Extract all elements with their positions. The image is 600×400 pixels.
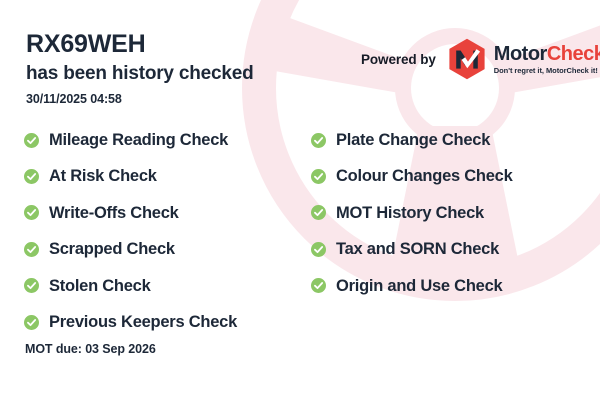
- green-check-circle-icon: [24, 169, 39, 184]
- green-check-circle-icon: [24, 315, 39, 330]
- list-item: MOT History Check: [311, 195, 513, 231]
- list-item: At Risk Check: [24, 158, 237, 194]
- report-header: RX69WEH has been history checked 30/11/2…: [26, 30, 254, 106]
- check-label: Scrapped Check: [49, 241, 175, 258]
- check-label: At Risk Check: [49, 168, 157, 185]
- list-item: Scrapped Check: [24, 231, 237, 267]
- check-label: Origin and Use Check: [336, 278, 502, 295]
- list-item: Write-Offs Check: [24, 195, 237, 231]
- brand-tagline: Don't regret it, MotorCheck it!: [494, 67, 600, 75]
- wordmark-motor: Motor: [494, 43, 547, 65]
- check-label: Previous Keepers Check: [49, 314, 237, 331]
- green-check-circle-icon: [24, 133, 39, 148]
- wordmark-check: Check: [547, 43, 600, 65]
- motorcheck-wordmark: MotorCheck Don't regret it, MotorCheck i…: [494, 44, 600, 75]
- check-label: Tax and SORN Check: [336, 241, 499, 258]
- vehicle-registration: RX69WEH: [26, 30, 254, 60]
- wordmark-text: MotorCheck: [494, 44, 600, 64]
- check-label: Stolen Check: [49, 278, 151, 295]
- green-check-circle-icon: [311, 242, 326, 257]
- list-item: Origin and Use Check: [311, 268, 513, 304]
- list-item: Tax and SORN Check: [311, 231, 513, 267]
- mot-due-text: MOT due: 03 Sep 2026: [25, 342, 156, 356]
- check-label: Mileage Reading Check: [49, 132, 228, 149]
- checks-right-column: Plate Change Check Colour Changes Check …: [311, 122, 513, 304]
- green-check-circle-icon: [24, 278, 39, 293]
- checks-left-column: Mileage Reading Check At Risk Check Writ…: [24, 122, 237, 340]
- powered-by-label: Powered by: [361, 52, 436, 67]
- check-label: Write-Offs Check: [49, 205, 179, 222]
- green-check-circle-icon: [311, 133, 326, 148]
- motorcheck-hexagon-m-icon: [447, 38, 487, 80]
- list-item: Plate Change Check: [311, 122, 513, 158]
- green-check-circle-icon: [311, 278, 326, 293]
- check-label: Colour Changes Check: [336, 168, 513, 185]
- check-label: Plate Change Check: [336, 132, 490, 149]
- list-item: Stolen Check: [24, 268, 237, 304]
- list-item: Mileage Reading Check: [24, 122, 237, 158]
- page-title: has been history checked: [26, 62, 254, 86]
- green-check-circle-icon: [311, 169, 326, 184]
- list-item: Previous Keepers Check: [24, 304, 237, 340]
- check-label: MOT History Check: [336, 205, 484, 222]
- history-check-card: RX69WEH has been history checked 30/11/2…: [0, 0, 600, 400]
- report-timestamp: 30/11/2025 04:58: [26, 92, 254, 106]
- green-check-circle-icon: [24, 242, 39, 257]
- green-check-circle-icon: [24, 205, 39, 220]
- powered-by-brand-bar: Powered by MotorCheck Don't regret it, M…: [361, 38, 600, 80]
- list-item: Colour Changes Check: [311, 158, 513, 194]
- green-check-circle-icon: [311, 205, 326, 220]
